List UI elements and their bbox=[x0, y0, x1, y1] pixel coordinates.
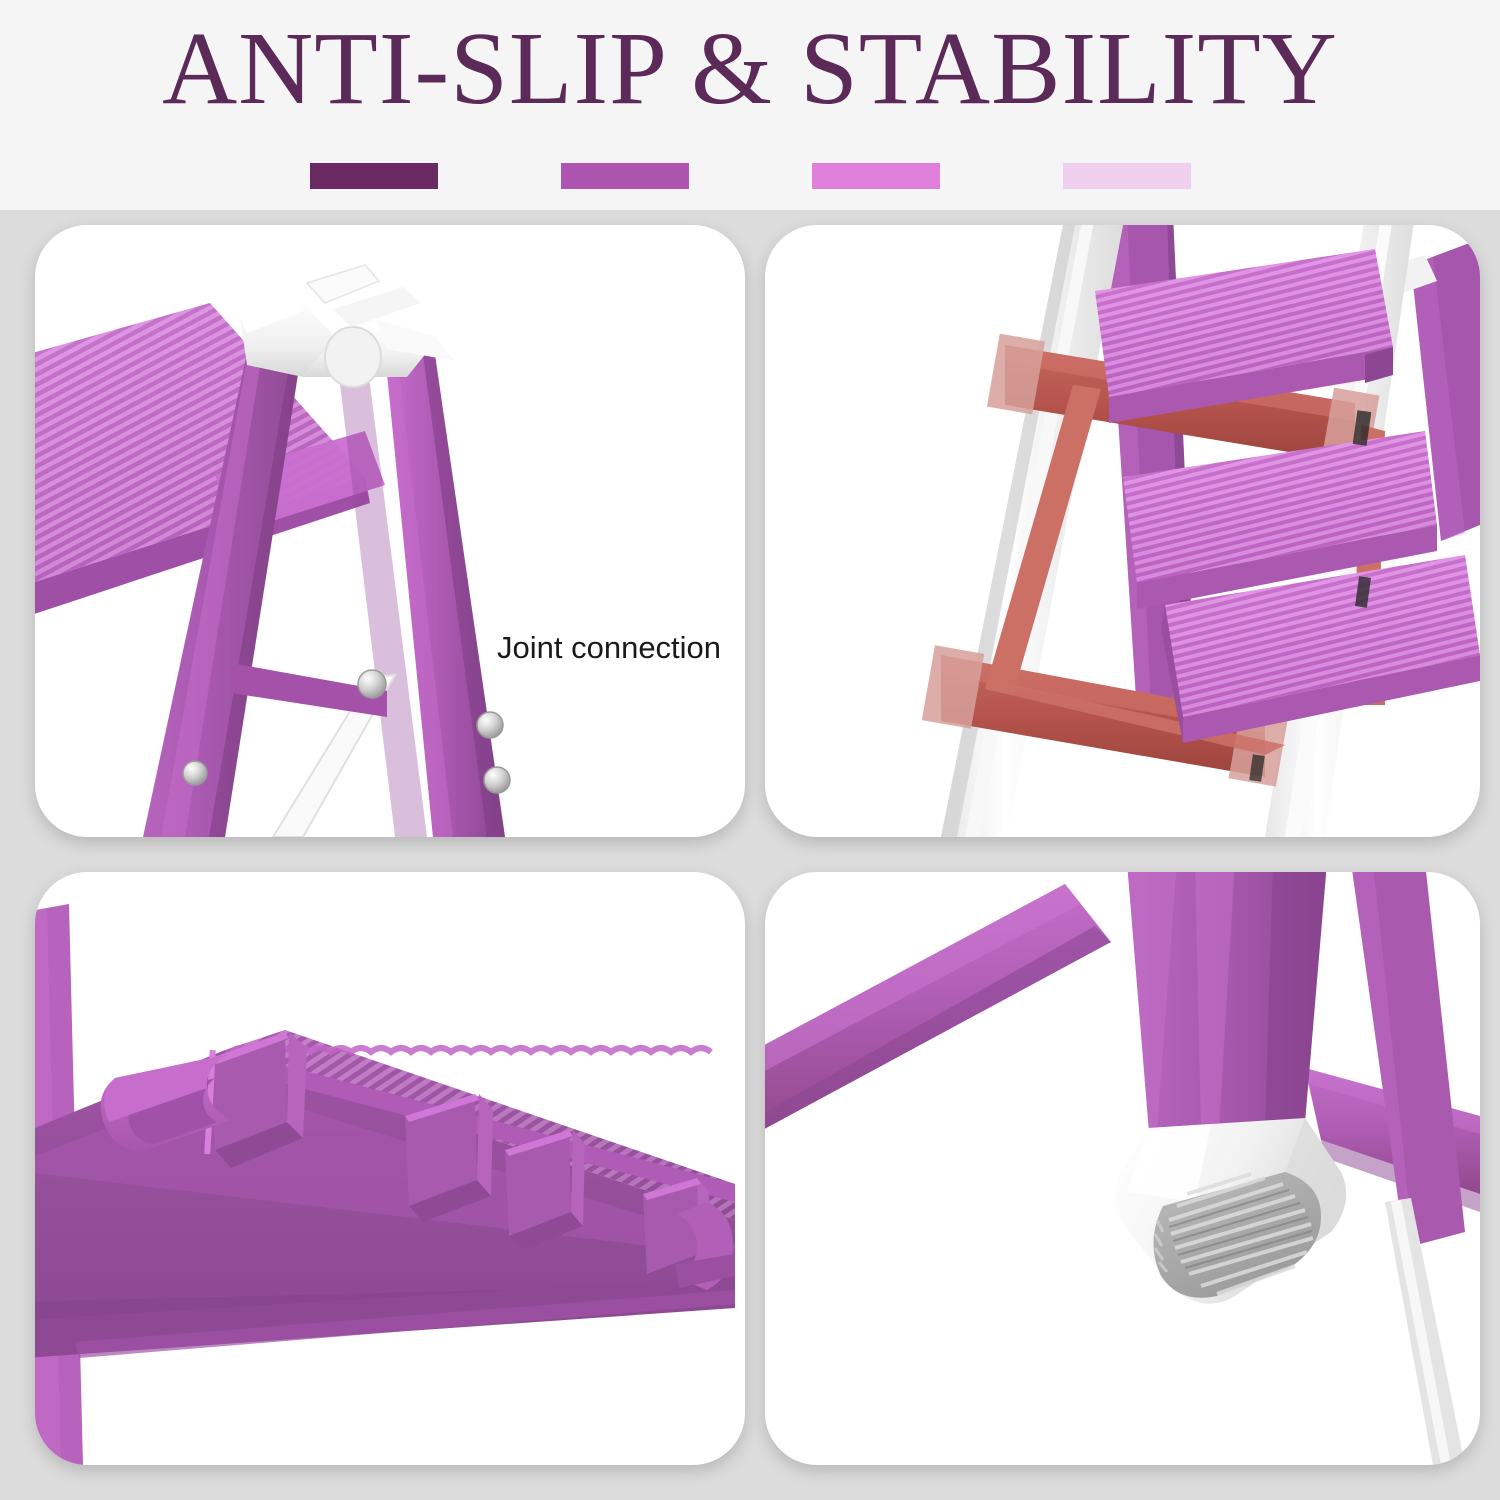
panel-weight-support: Stronger weight support aluminum profile… bbox=[765, 225, 1480, 837]
panel-anti-slip-feet: Anti-slip rubber feet Suitalefor all typ… bbox=[765, 872, 1480, 1465]
joint-connection-illustration bbox=[35, 225, 745, 837]
panel-aluminum-step-profile: 1.1MM More thicker aluminum step More an… bbox=[35, 872, 745, 1465]
panel-joint-connection: Joint connection bbox=[35, 225, 745, 837]
swatch-dark-plum bbox=[310, 163, 438, 189]
swatch-pale-pink bbox=[1063, 163, 1191, 189]
color-swatch-row bbox=[0, 163, 1500, 189]
page-title: ANTI-SLIP & STABILITY bbox=[0, 14, 1500, 123]
far-right-rail bbox=[1351, 872, 1465, 1248]
header-band: ANTI-SLIP & STABILITY bbox=[0, 0, 1500, 210]
caption-joint-connection: Joint connection bbox=[497, 623, 721, 673]
swatch-light-orchid bbox=[812, 163, 940, 189]
main-front-leg bbox=[1127, 872, 1327, 1132]
aluminum-step-profile-illustration bbox=[35, 872, 745, 1465]
left-cross-rail bbox=[765, 884, 1111, 1134]
anti-slip-feet-illustration bbox=[765, 872, 1480, 1465]
weight-support-illustration bbox=[765, 225, 1480, 837]
swatch-medium-orchid bbox=[561, 163, 689, 189]
